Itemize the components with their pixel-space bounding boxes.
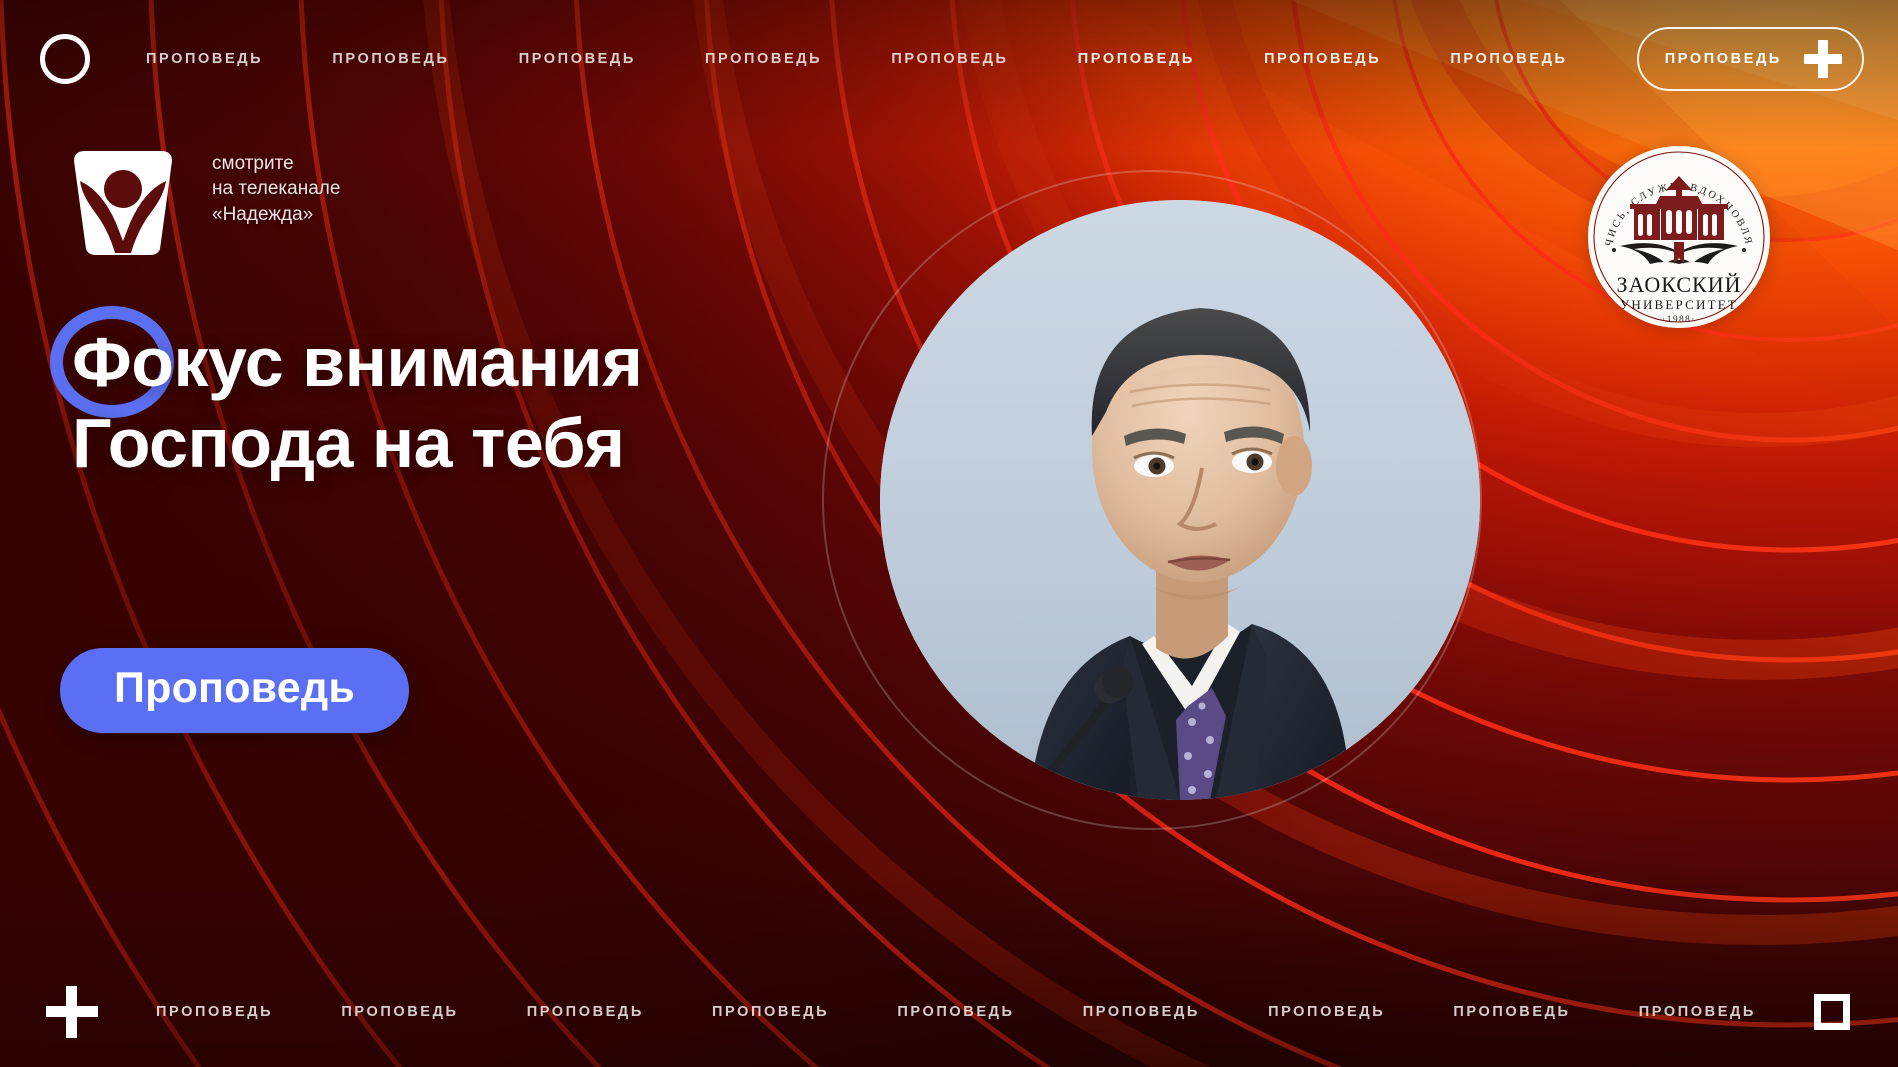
bottom-navigation-bar: ПРОПОВЕДЬ ПРОПОВЕДЬ ПРОПОВЕДЬ ПРОПОВЕДЬ … (0, 957, 1898, 1067)
brand-tagline-line-1: смотрите (212, 151, 340, 176)
bottom-nav-item-6[interactable]: ПРОПОВЕДЬ (1083, 1004, 1200, 1020)
top-nav-item-4[interactable]: ПРОПОВЕДЬ (705, 51, 822, 67)
top-nav-item-1[interactable]: ПРОПОВЕДЬ (146, 51, 263, 67)
brand-tagline: смотрите на телеканале «Надежда» (212, 151, 340, 227)
person-in-shield-logo-icon (60, 145, 186, 255)
university-seal-badge: УЧИСЬ, СЛУЖИ, ВДОХНОВЛЯЙ (1588, 146, 1770, 328)
bottom-nav-item-9[interactable]: ПРОПОВЕДЬ (1639, 1004, 1756, 1020)
bottom-nav-item-4[interactable]: ПРОПОВЕДЬ (712, 1004, 829, 1020)
top-nav-item-9-label: ПРОПОВЕДЬ (1665, 51, 1782, 67)
seal-name-line-2: УНИВЕРСИТЕТ (1620, 297, 1738, 312)
poster-canvas: ПРОПОВЕДЬ ПРОПОВЕДЬ ПРОПОВЕДЬ ПРОПОВЕДЬ … (0, 0, 1898, 1067)
top-nav-item-2[interactable]: ПРОПОВЕДЬ (332, 51, 449, 67)
plus-icon[interactable] (1804, 40, 1842, 78)
plus-icon[interactable] (46, 986, 98, 1038)
brand-tagline-line-3: «Надежда» (212, 202, 340, 227)
brand-tagline-line-2: на телеканале (212, 176, 340, 201)
page-title-line-2: Господа на тебя (72, 403, 642, 484)
bottom-nav-item-7[interactable]: ПРОПОВЕДЬ (1268, 1004, 1385, 1020)
square-outline-icon[interactable] (1814, 994, 1850, 1030)
top-nav-items: ПРОПОВЕДЬ ПРОПОВЕДЬ ПРОПОВЕДЬ ПРОПОВЕДЬ … (146, 27, 1864, 91)
top-nav-item-8[interactable]: ПРОПОВЕДЬ (1450, 51, 1567, 67)
bottom-nav-item-8[interactable]: ПРОПОВЕДЬ (1453, 1004, 1570, 1020)
top-navigation-bar: ПРОПОВЕДЬ ПРОПОВЕДЬ ПРОПОВЕДЬ ПРОПОВЕДЬ … (0, 0, 1898, 118)
bottom-nav-item-1[interactable]: ПРОПОВЕДЬ (156, 1004, 273, 1020)
bottom-nav-item-5[interactable]: ПРОПОВЕДЬ (897, 1004, 1014, 1020)
ring-logo-icon[interactable] (40, 34, 90, 84)
top-nav-item-5[interactable]: ПРОПОВЕДЬ (891, 51, 1008, 67)
portrait-image (880, 200, 1480, 800)
seal-name-line-1: ЗАОКСКИЙ (1617, 272, 1742, 297)
bottom-nav-item-3[interactable]: ПРОПОВЕДЬ (527, 1004, 644, 1020)
top-nav-item-3[interactable]: ПРОПОВЕДЬ (519, 51, 636, 67)
bottom-nav-item-2[interactable]: ПРОПОВЕДЬ (341, 1004, 458, 1020)
seal-year: ·1988· (1662, 315, 1696, 325)
brand-block: смотрите на телеканале «Надежда» (60, 145, 340, 255)
sermon-cta-button[interactable]: Проповедь (60, 648, 409, 733)
speaker-portrait (822, 170, 1482, 830)
page-title: Фокус внимания Господа на тебя (72, 322, 642, 484)
page-title-line-1: Фокус внимания (72, 322, 642, 403)
top-nav-item-6[interactable]: ПРОПОВЕДЬ (1078, 51, 1195, 67)
bottom-nav-items: ПРОПОВЕДЬ ПРОПОВЕДЬ ПРОПОВЕДЬ ПРОПОВЕДЬ … (156, 1004, 1756, 1020)
top-nav-item-highlighted[interactable]: ПРОПОВЕДЬ (1637, 27, 1864, 91)
top-nav-item-7[interactable]: ПРОПОВЕДЬ (1264, 51, 1381, 67)
